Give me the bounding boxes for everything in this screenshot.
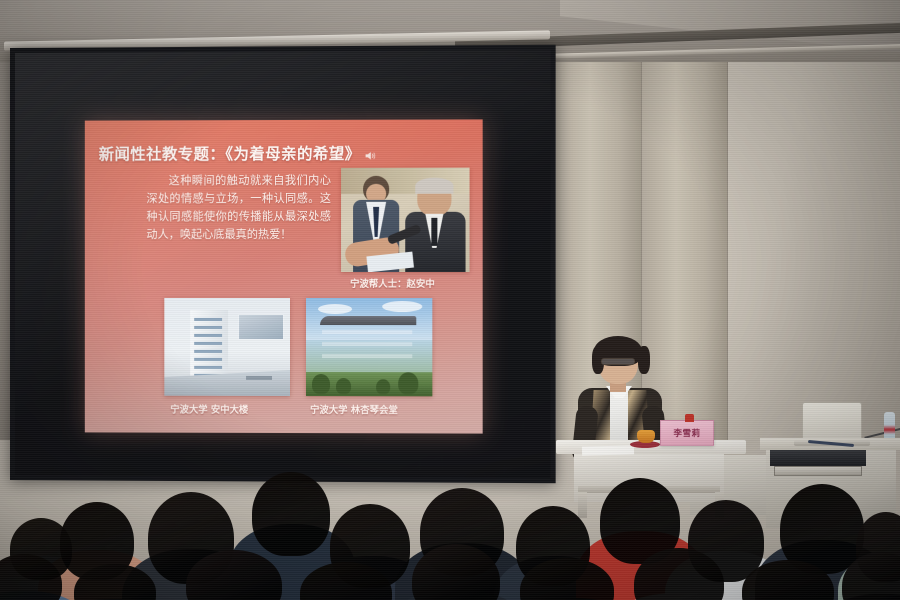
presentation-slide: 新闻性社教专题：《为着母亲的希望》 这种瞬间的触动就来自我们内心深处的情感与立场…	[85, 119, 483, 433]
slide-title: 新闻性社教专题：《为着母亲的希望》	[99, 142, 469, 165]
slide-body-text: 这种瞬间的触动就来自我们内心深处的情感与立场，一种认同感。这种认同感能使你的传播…	[146, 172, 331, 245]
slide-photo-interview	[341, 168, 470, 272]
slide-photo-auditorium	[306, 298, 432, 396]
audience-head	[252, 472, 330, 556]
audience	[0, 432, 900, 600]
speaker-icon	[364, 148, 376, 160]
slide-photo-caption-interview: 宁波帮人士：赵安中	[350, 276, 435, 290]
slide-title-text: 新闻性社教专题：《为着母亲的希望》	[99, 142, 361, 165]
slide-photo-caption-tower: 宁波大学 安中大楼	[170, 402, 248, 416]
slide-photo-caption-auditorium: 宁波大学 林杏琴会堂	[310, 402, 398, 416]
eyeglasses-icon	[601, 358, 635, 365]
slide-photo-tower	[164, 298, 290, 396]
lecture-hall-photo: 新闻性社教专题：《为着母亲的希望》 这种瞬间的触动就来自我们内心深处的情感与立场…	[0, 0, 900, 600]
nameplate-clip-icon	[685, 414, 694, 422]
